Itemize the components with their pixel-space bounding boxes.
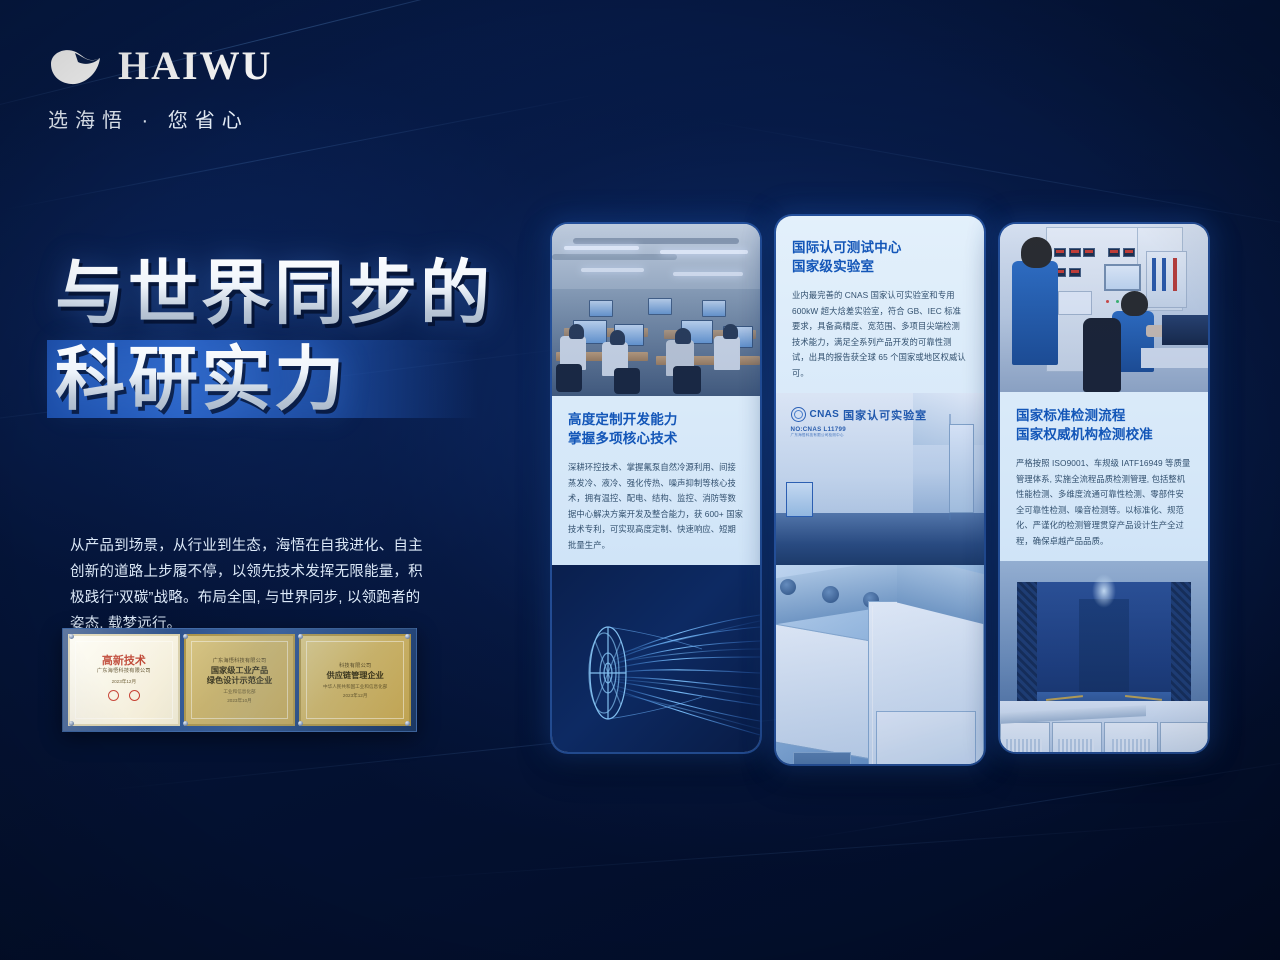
headline-text-2: 科研实力 <box>55 336 595 422</box>
card-heading-line-2: 掌握多项核心技术 <box>568 429 744 448</box>
card-text-block: 高度定制开发能力 掌握多项核心技术 深耕环控技术、掌握氟泵自然冷源利用、间接蒸发… <box>552 396 760 565</box>
headline-line-2: 科研实力 <box>55 336 595 422</box>
certificate-item: 高新技术 广东海悟科技有限公司 2023年12月 <box>68 634 180 726</box>
card-test-center[interactable]: 国际认可测试中心 国家级实验室 业内最完善的 CNAS 国家认可实验室和专用 6… <box>776 216 984 764</box>
cnas-lab-corridor-photo: CNAS 国家认可实验室 NO:CNAS L11799 广东海悟科技有限公司检测… <box>776 393 984 565</box>
wave-leaf-logo-icon <box>48 44 104 88</box>
card-heading-line-2: 国家权威机构检测校准 <box>1016 425 1192 444</box>
ahu-equipment-photo <box>776 565 984 764</box>
card-heading-line-1: 国家标准检测流程 <box>1016 406 1192 425</box>
page-title: 与世界同步的 科研实力 <box>55 250 595 422</box>
feature-cards: 高度定制开发能力 掌握多项核心技术 深耕环控技术、掌握氟泵自然冷源利用、间接蒸发… <box>544 216 1224 772</box>
certificate-date: 2023年10月 <box>227 698 252 704</box>
certificate-title: 国家级工业产品 <box>211 666 268 676</box>
certificate-org: 广东海悟科技有限公司 <box>97 667 151 674</box>
rnd-office-photo <box>552 224 760 396</box>
card-body-text: 深耕环控技术、掌握氟泵自然冷源利用、间接蒸发冷、液冷、强化传热、噪声抑制等核心技… <box>568 460 744 553</box>
control-room-technicians-photo <box>1000 224 1208 392</box>
card-custom-dev[interactable]: 高度定制开发能力 掌握多项核心技术 深耕环控技术、掌握氟泵自然冷源利用、间接蒸发… <box>552 224 760 752</box>
anechoic-chamber-photo <box>1000 561 1208 752</box>
card-national-standard[interactable]: 国家标准检测流程 国家权威机构检测校准 严格按照 ISO9001、车规级 IAT… <box>1000 224 1208 752</box>
certificates-panel: 高新技术 广东海悟科技有限公司 2023年12月 广东海悟科技有限公司 国家级工… <box>62 628 417 732</box>
certificate-item: 广东海悟科技有限公司 国家级工业产品 绿色设计示范企业 工业和信息化部 2023… <box>184 634 296 726</box>
card-heading-line-1: 高度定制开发能力 <box>568 410 744 429</box>
headline-text-1: 与世界同步的 <box>55 250 595 336</box>
certificate-date: 2023年12月 <box>343 693 368 699</box>
certificate-seal-icon <box>108 690 119 701</box>
certificate-title: 供应链管理企业 <box>327 671 384 681</box>
card-body-text: 业内最完善的 CNAS 国家认可实验室和专用 600kW 超大焓差实验室，符合 … <box>792 288 968 381</box>
cfd-fan-airflow-photo <box>552 565 760 752</box>
certificate-seal-icon <box>129 690 140 701</box>
brand-wordmark: HAIWU <box>118 46 272 86</box>
certificate-title: 高新技术 <box>102 655 146 667</box>
intro-paragraph: 从产品到场景，从行业到生态，海悟在自我进化、自主创新的道路上步履不停，以领先技术… <box>70 533 430 637</box>
card-heading-line-2: 国家级实验室 <box>792 257 968 276</box>
certificate-issuer: 中华人民共和国工业和信息化部 <box>323 684 387 690</box>
card-text-block: 国家标准检测流程 国家权威机构检测校准 严格按照 ISO9001、车规级 IAT… <box>1000 392 1208 561</box>
certificate-issuer: 2023年12月 <box>112 679 137 685</box>
card-text-block: 国际认可测试中心 国家级实验室 业内最完善的 CNAS 国家认可实验室和专用 6… <box>776 216 984 393</box>
certificate-issuer: 工业和信息化部 <box>223 689 255 695</box>
card-heading-line-1: 国际认可测试中心 <box>792 238 968 257</box>
brand-logo-block: HAIWU 选海悟 · 您省心 <box>48 44 272 133</box>
certificate-item: 科技有限公司 供应链管理企业 中华人民共和国工业和信息化部 2023年12月 <box>299 634 411 726</box>
headline-line-1: 与世界同步的 <box>55 250 595 336</box>
card-body-text: 严格按照 ISO9001、车规级 IATF16949 等质量管理体系, 实施全流… <box>1016 456 1192 549</box>
certificate-org: 广东海悟科技有限公司 <box>213 657 267 664</box>
certificate-org: 科技有限公司 <box>339 662 371 669</box>
brand-slogan: 选海悟 · 您省心 <box>48 104 272 133</box>
certificate-title-2: 绿色设计示范企业 <box>207 676 273 686</box>
